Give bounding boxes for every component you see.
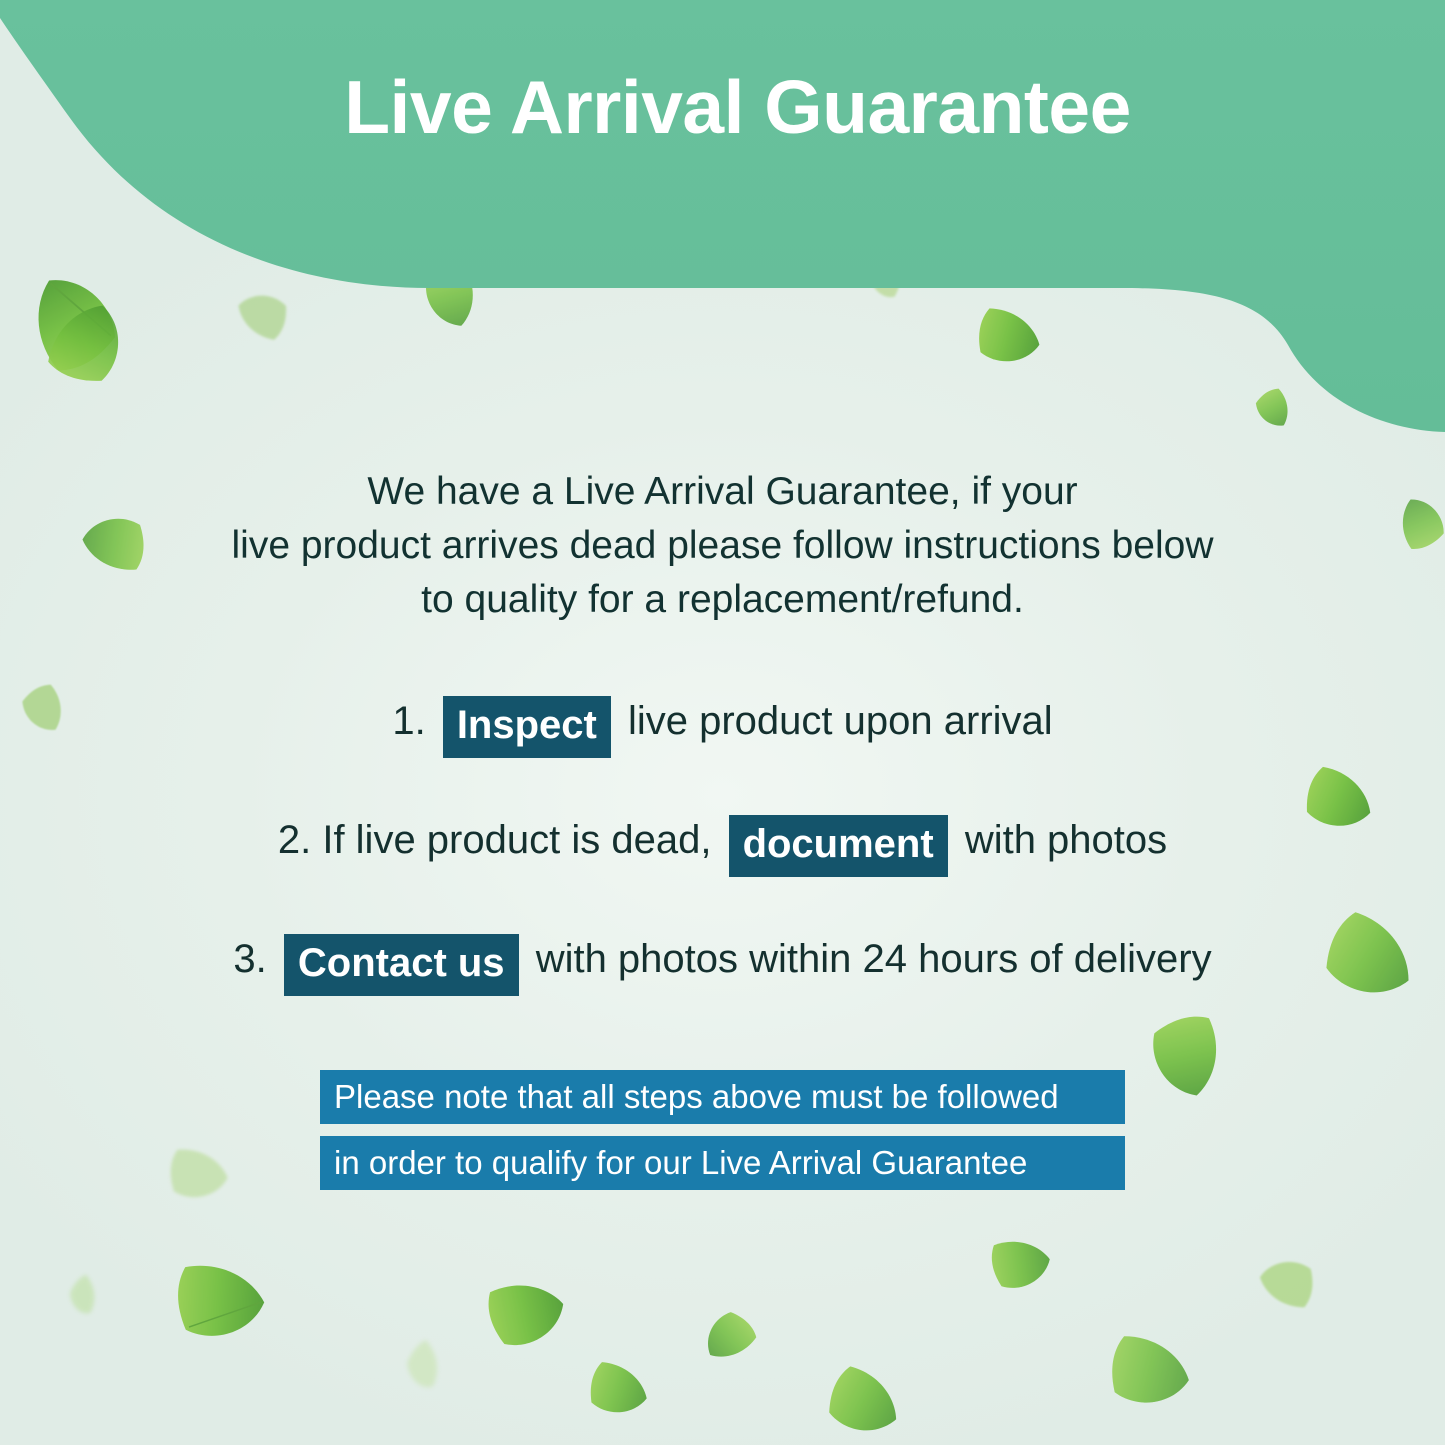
step-item-3: 3. Contact us with photos within 24 hour… — [0, 923, 1445, 995]
poster-content: We have a Live Arrival Guarantee, if you… — [0, 0, 1445, 1445]
intro-line-1: We have a Live Arrival Guarantee, if you… — [0, 465, 1445, 519]
step-2-highlight-document: document — [729, 815, 948, 877]
step-3-text-after: with photos within 24 hours of delivery — [536, 937, 1212, 981]
intro-line-2: live product arrives dead please follow … — [0, 519, 1445, 573]
steps-list: 1. Inspect live product upon arrival 2. … — [0, 685, 1445, 1042]
step-2-text-after: with photos — [965, 818, 1167, 862]
note-line-1: Please note that all steps above must be… — [320, 1070, 1125, 1124]
step-1-highlight-inspect: Inspect — [443, 696, 611, 758]
intro-paragraph: We have a Live Arrival Guarantee, if you… — [0, 465, 1445, 627]
note-line-2: in order to qualify for our Live Arrival… — [320, 1136, 1125, 1190]
step-item-2: 2. If live product is dead, document wit… — [0, 804, 1445, 876]
step-1-number: 1. — [392, 699, 425, 743]
note-spacer — [0, 1124, 1445, 1136]
important-note-block: Please note that all steps above must be… — [0, 1070, 1445, 1190]
step-2-text-before: If live product is dead, — [322, 818, 711, 862]
step-3-number: 3. — [233, 937, 266, 981]
step-1-text-after: live product upon arrival — [628, 699, 1053, 743]
intro-line-3: to quality for a replacement/refund. — [0, 573, 1445, 627]
step-2-number: 2. — [278, 818, 311, 862]
step-item-1: 1. Inspect live product upon arrival — [0, 685, 1445, 757]
step-3-highlight-contact-us: Contact us — [284, 934, 519, 996]
live-arrival-guarantee-poster: Live Arrival Guarantee — [0, 0, 1445, 1445]
